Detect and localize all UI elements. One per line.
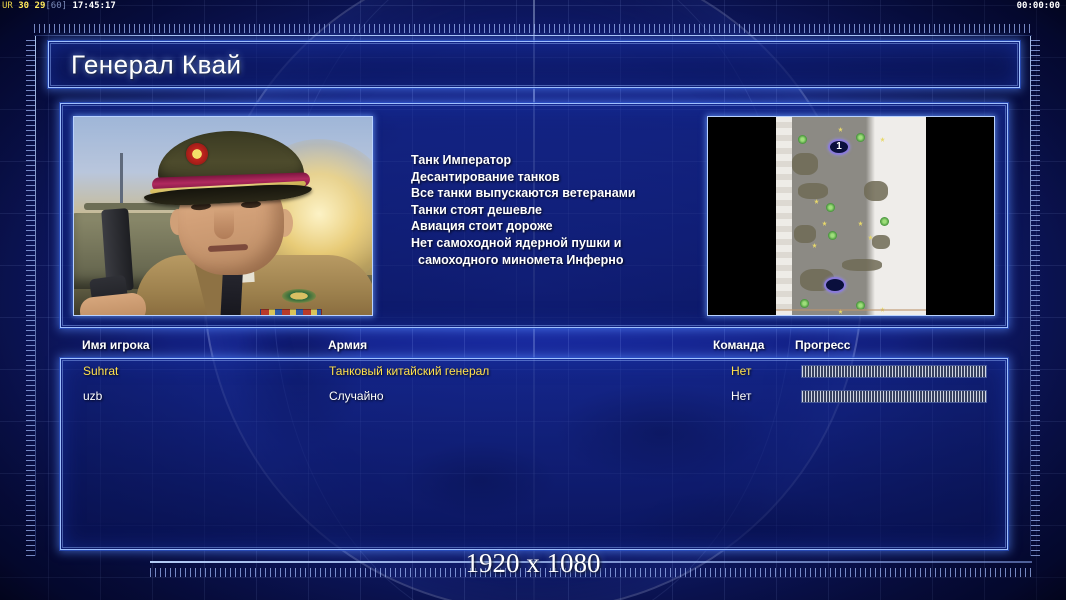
map-start-position-1[interactable]: 1 [828,139,850,155]
fps-value: 30 [18,1,29,11]
progress-bar [801,365,987,378]
description-line: Танк Император [411,152,711,169]
description-line: Авиация стоит дороже [411,218,711,235]
general-info-panel: Танк Император Десантирование танков Все… [60,103,1008,328]
table-row[interactable]: Suhrat Танковый китайский генерал Нет [61,359,1007,384]
frame-line-top [34,35,1032,36]
fps-counter: UR 30 29[60] 17:45:17 [2,0,116,13]
map-start-position-2[interactable] [824,277,846,293]
map-supply-icon [814,199,819,204]
resolution-label: 1920 x 1080 [0,548,1066,579]
map-tree [800,299,809,308]
general-description-list: Танк Император Десантирование танков Все… [411,152,711,268]
system-clock: 17:45:17 [72,1,115,11]
progress-bar-fill [802,366,986,377]
portrait-cap-badge-icon [186,143,208,165]
fps-bracket: [60] [45,1,67,11]
description-line: Танки стоят дешевле [411,202,711,219]
map-rock [792,153,818,175]
map-supply-icon [880,137,885,142]
map-tree [828,231,837,240]
progress-bar-fill [802,391,986,402]
map-rock [864,181,888,201]
map-rock [794,225,816,243]
map-tree [880,217,889,226]
column-header-team: Команда [713,338,764,352]
map-supply-icon [812,243,817,248]
cell-player-name: uzb [83,384,102,409]
cell-army: Случайно [329,384,384,409]
description-line: самоходного миномета Инферно [411,252,711,269]
map-rock [872,235,890,249]
game-timer: 00:00:00 [1017,0,1060,13]
map-preview[interactable]: 1 [707,116,995,316]
frame-line-right [1030,36,1031,556]
map-supply-icon [858,221,863,226]
frame-line-left [35,36,36,556]
cell-team: Нет [731,359,751,384]
map-rock [798,183,828,199]
map-tree [856,133,865,142]
portrait-nose [214,209,234,239]
column-header-army: Армия [328,338,367,352]
player-list-panel: Suhrat Танковый китайский генерал Нет uz… [60,358,1008,550]
title-panel: Генерал Квай [48,41,1020,88]
player-list-header: Имя игрока Армия Команда Прогресс [60,338,1008,358]
cell-team: Нет [731,384,751,409]
map-supply-icon [822,221,827,226]
cell-army: Танковый китайский генерал [329,359,489,384]
map-road [776,309,926,311]
description-line: Десантирование танков [411,169,711,186]
map-supply-icon [838,127,843,132]
column-header-player-name: Имя игрока [82,338,150,352]
player-rows: Suhrat Танковый китайский генерал Нет uz… [61,359,1007,409]
map-preview-image: 1 [776,117,926,316]
fps-second-value: 29 [35,1,46,11]
table-row[interactable]: uzb Случайно Нет [61,384,1007,409]
portrait-medal [282,289,316,303]
fps-prefix: UR [2,1,13,11]
progress-bar [801,390,987,403]
description-line: Нет самоходной ядерной пушки и [411,235,711,252]
map-tree [798,135,807,144]
column-header-progress: Прогресс [795,338,850,352]
map-rock [842,259,882,271]
map-tree [826,203,835,212]
map-snow-edge [776,117,792,316]
page-title: Генерал Квай [71,49,242,80]
description-line: Все танки выпускаются ветеранами [411,185,711,202]
portrait-ribbons [260,309,322,316]
general-portrait [73,116,373,316]
cell-player-name: Suhrat [83,359,118,384]
top-status-bar: UR 30 29[60] 17:45:17 00:00:00 [0,0,1066,13]
